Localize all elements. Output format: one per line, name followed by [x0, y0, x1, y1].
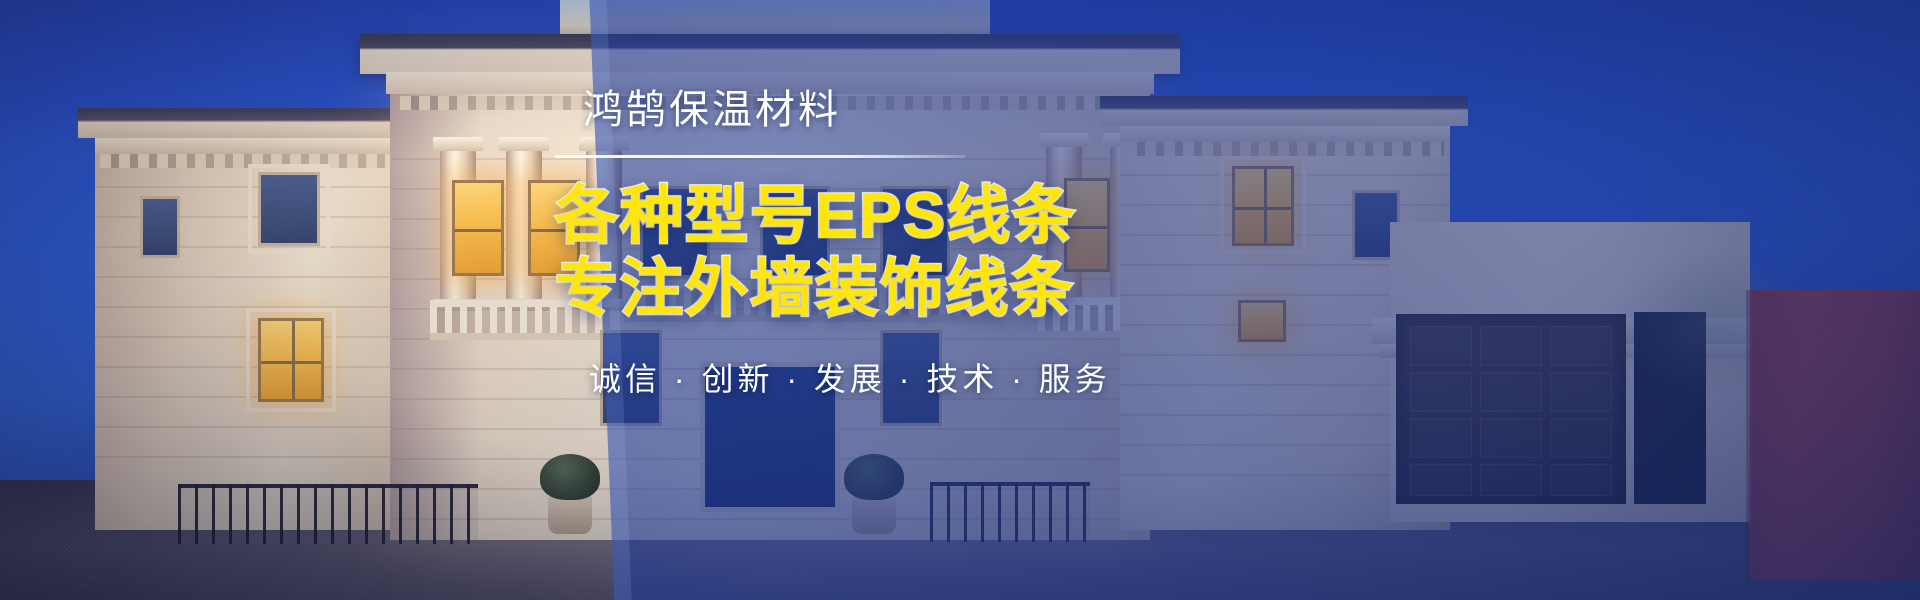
divider-rule: [555, 155, 965, 158]
headline-line-1: 各种型号EPS线条: [555, 182, 1175, 251]
headline-line-2: 专注外墙装饰线条: [555, 255, 1175, 324]
brand-name: 鸿鹄保温材料: [583, 88, 1175, 133]
promotional-banner: 鸿鹄保温材料 各种型号EPS线条 专注外墙装饰线条 诚信 · 创新 · 发展 ·…: [0, 0, 1920, 600]
tagline: 诚信 · 创新 · 发展 · 技术 · 服务: [589, 354, 1175, 400]
banner-copy-block: 鸿鹄保温材料 各种型号EPS线条 专注外墙装饰线条 诚信 · 创新 · 发展 ·…: [555, 88, 1175, 400]
